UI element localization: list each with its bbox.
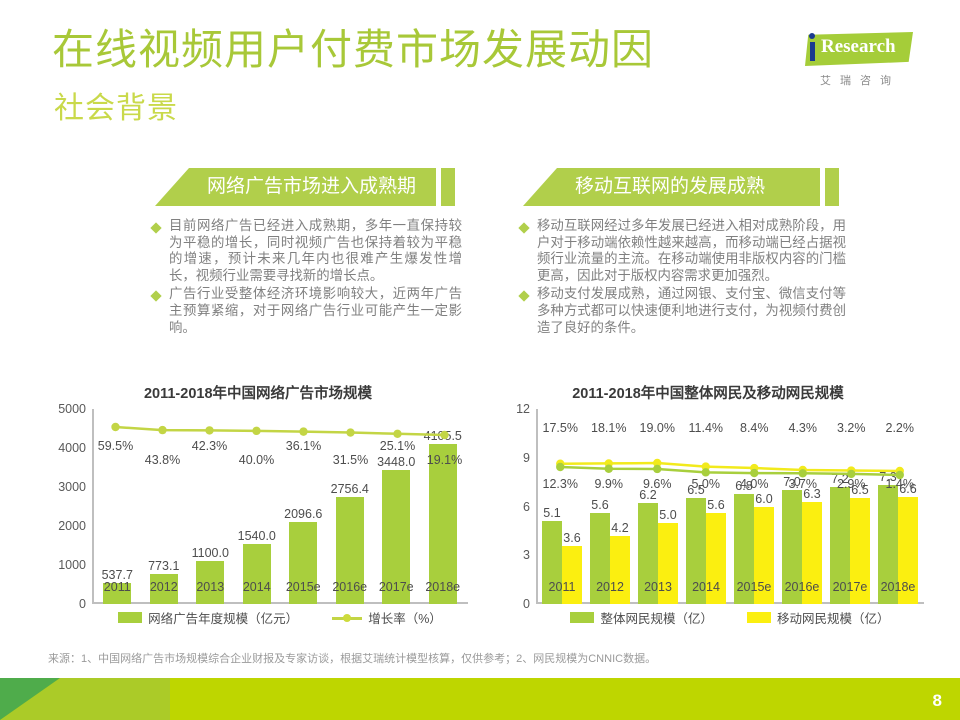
footer-bar: 8	[0, 678, 960, 720]
diamond-bullet-icon	[518, 291, 529, 302]
diamond-bullet-icon	[150, 291, 161, 302]
line-value-label: 25.1%	[380, 439, 415, 453]
bar-group: 7.06.3	[778, 409, 826, 604]
line-value-label: 11.4%	[688, 421, 723, 435]
line-value-label: 3.7%	[789, 477, 818, 491]
bar-group: 6.86.0	[730, 409, 778, 604]
bar-group: 7.26.5	[826, 409, 874, 604]
bar: 3.6	[562, 546, 582, 605]
line-value-label: 43.8%	[145, 453, 180, 467]
bar-value-label: 773.1	[148, 559, 179, 573]
section-banner-right: 移动互联网的发展成熟	[523, 168, 839, 206]
diamond-bullet-icon	[518, 222, 529, 233]
bar-series: 5.13.65.64.26.25.06.55.66.86.07.06.37.26…	[538, 409, 922, 604]
x-axis-labels: 20112012201320142015e2016e2017e2018e	[94, 580, 466, 594]
x-axis-label: 2016e	[778, 580, 826, 594]
x-axis-label: 2011	[538, 580, 586, 594]
y-axis-tick: 1000	[58, 558, 86, 572]
x-axis-label: 2018e	[420, 580, 467, 594]
chart-title: 2011-2018年中国网络广告市场规模	[48, 382, 468, 403]
bar-group: 6.25.0	[634, 409, 682, 604]
section-banner-left: 网络广告市场进入成熟期	[155, 168, 455, 206]
bar-value-label: 3448.0	[377, 455, 415, 469]
bar-value-label: 4105.5	[424, 429, 462, 443]
chart-title: 2011-2018年中国整体网民及移动网民规模	[492, 382, 924, 403]
line-value-label: 59.5%	[98, 439, 133, 453]
bar-value-label: 2096.6	[284, 507, 322, 521]
x-axis-label: 2013	[187, 580, 234, 594]
y-axis-tick: 2000	[58, 519, 86, 533]
x-axis-label: 2011	[94, 580, 141, 594]
legend-swatch-mobile	[747, 612, 771, 623]
y-axis-tick: 5000	[58, 402, 86, 416]
bar-value-label: 5.0	[659, 508, 676, 522]
chart-legend: 整体网民规模（亿） 移动网民规模（亿）	[536, 608, 924, 627]
x-axis-label: 2015e	[280, 580, 327, 594]
line-value-label: 4.3%	[789, 421, 818, 435]
line-value-label: 2.9%	[837, 477, 866, 491]
x-axis-label: 2014	[682, 580, 730, 594]
chart-netizen-scale: 2011-2018年中国整体网民及移动网民规模 129630 5.13.65.6…	[492, 382, 924, 647]
diamond-bullet-icon	[150, 222, 161, 233]
bar-group: 1540.0	[234, 409, 281, 604]
bar-value-label: 5.6	[591, 498, 608, 512]
logo-i-dot-icon	[809, 33, 815, 39]
line-value-label: 2.2%	[886, 421, 915, 435]
bar-group: 2756.4	[327, 409, 374, 604]
legend-label: 增长率（%）	[368, 608, 442, 627]
bar-value-label: 6.0	[755, 492, 772, 506]
bar-value-label: 3.6	[563, 531, 580, 545]
line-value-label: 8.4%	[740, 421, 769, 435]
legend-swatch-bar	[118, 612, 142, 623]
x-axis-label: 2017e	[826, 580, 874, 594]
banner-divider-white	[436, 168, 441, 206]
iresearch-logo: Research 艾瑞咨询	[795, 30, 915, 92]
slide: 在线视频用户付费市场发展动因 社会背景 Research 艾瑞咨询 网络广告市场…	[0, 0, 960, 720]
y-axis-tick: 0	[523, 597, 530, 611]
plot-area: 500040003000200010000 537.7773.11100.015…	[48, 409, 468, 604]
legend-label: 移动网民规模（亿）	[777, 608, 890, 627]
banner-divider-green	[447, 168, 455, 206]
line-value-label: 5.0%	[692, 477, 721, 491]
line-value-label: 36.1%	[286, 439, 321, 453]
y-axis-tick: 4000	[58, 441, 86, 455]
bar-group: 5.64.2	[586, 409, 634, 604]
y-axis-tick: 3000	[58, 480, 86, 494]
bar-value-label: 2756.4	[331, 482, 369, 496]
y-axis: 129630	[492, 409, 536, 604]
x-axis-label: 2012	[586, 580, 634, 594]
line-value-label: 19.1%	[427, 453, 462, 467]
x-axis-label: 2016e	[327, 580, 374, 594]
bullet-text: 广告行业受整体经济环境影响较大，近两年广告主预算紧缩，对于网络广告行业可能产生一…	[169, 286, 462, 336]
legend-swatch-total	[570, 612, 594, 623]
line-value-label: 18.1%	[591, 421, 626, 435]
bar-value-label: 5.1	[543, 506, 560, 520]
y-axis: 500040003000200010000	[48, 409, 92, 604]
legend-swatch-line	[332, 612, 362, 623]
x-axis-labels: 20112012201320142015e2016e2017e2018e	[538, 580, 922, 594]
bullet-item: 广告行业受整体经济环境影响较大，近两年广告主预算紧缩，对于网络广告行业可能产生一…	[152, 286, 462, 336]
line-value-label: 17.5%	[543, 421, 578, 435]
line-value-label: 9.9%	[595, 477, 624, 491]
source-note: 来源：1、中国网络广告市场规模综合企业财报及专家访谈，根据艾瑞统计模型核算，仅供…	[48, 650, 918, 666]
logo-i-stem-icon	[810, 42, 815, 61]
logo-wordmark: Research	[821, 36, 896, 58]
logo-chinese-name: 艾瑞咨询	[807, 72, 913, 88]
line-value-label: 19.0%	[640, 421, 675, 435]
page-title: 在线视频用户付费市场发展动因	[52, 26, 654, 74]
bar-value-label: 1100.0	[192, 546, 229, 560]
y-axis-tick: 12	[516, 402, 530, 416]
page-subtitle: 社会背景	[54, 92, 178, 127]
line-value-label: 3.2%	[837, 421, 866, 435]
line-value-label: 1.4%	[886, 477, 915, 491]
y-axis-tick: 3	[523, 548, 530, 562]
bar-value-label: 1540.0	[238, 529, 276, 543]
line-value-label: 4.0%	[740, 477, 769, 491]
bullet-item: 移动支付发展成熟，通过网银、支付宝、微信支付等多种方式都可以快速便利地进行支付，…	[520, 286, 846, 336]
logo-mark: Research	[795, 30, 915, 70]
bar-group: 773.1	[141, 409, 188, 604]
x-axis-label: 2015e	[730, 580, 778, 594]
x-axis-label: 2012	[141, 580, 188, 594]
line-value-label: 42.3%	[192, 439, 227, 453]
bullet-text: 移动互联网经过多年发展已经进入相对成熟阶段，用户对于移动端依赖性越来越高，而移动…	[537, 218, 846, 284]
bar-group: 4105.5	[420, 409, 467, 604]
bar-group: 5.13.6	[538, 409, 586, 604]
legend-label: 网络广告年度规模（亿元）	[148, 608, 298, 627]
line-value-label: 12.3%	[543, 477, 578, 491]
banner-divider-green	[831, 168, 839, 206]
line-value-label: 40.0%	[239, 453, 274, 467]
bar-value-label: 5.6	[707, 498, 724, 512]
bar-group: 6.55.6	[682, 409, 730, 604]
y-axis-tick: 0	[79, 597, 86, 611]
bullet-text: 移动支付发展成熟，通过网银、支付宝、微信支付等多种方式都可以快速便利地进行支付，…	[537, 286, 846, 336]
banner-left-label: 网络广告市场进入成熟期	[207, 168, 416, 206]
bullet-item: 目前网络广告已经进入成熟期，多年一直保持较为平稳的增长，同时视频广告也保持着较为…	[152, 218, 462, 284]
bar-value-label: 4.2	[611, 521, 628, 535]
bullet-list-left: 目前网络广告已经进入成熟期，多年一直保持较为平稳的增长，同时视频广告也保持着较为…	[152, 218, 462, 338]
banner-divider-white	[820, 168, 825, 206]
chart-legend: 网络广告年度规模（亿元） 增长率（%）	[92, 608, 468, 627]
legend-label: 整体网民规模（亿）	[600, 608, 713, 627]
x-axis-label: 2018e	[874, 580, 922, 594]
x-axis-label: 2013	[634, 580, 682, 594]
x-axis-label: 2017e	[373, 580, 420, 594]
legend-item-mobile: 移动网民规模（亿）	[747, 608, 890, 627]
plot-area: 129630 5.13.65.64.26.25.06.55.66.86.07.0…	[492, 409, 924, 604]
legend-item-line: 增长率（%）	[332, 608, 442, 627]
bullet-item: 移动互联网经过多年发展已经进入相对成熟阶段，用户对于移动端依赖性越来越高，而移动…	[520, 218, 846, 284]
banner-right-label: 移动互联网的发展成熟	[575, 168, 765, 206]
chart-online-ad-market: 2011-2018年中国网络广告市场规模 5000400030002000100…	[48, 382, 468, 647]
line-value-label: 31.5%	[333, 453, 368, 467]
bar-group: 7.36.6	[874, 409, 922, 604]
y-axis-tick: 6	[523, 500, 530, 514]
legend-item-total: 整体网民规模（亿）	[570, 608, 713, 627]
legend-item-bar: 网络广告年度规模（亿元）	[118, 608, 298, 627]
bar: 1540.0	[243, 544, 271, 604]
y-axis-tick: 9	[523, 451, 530, 465]
bullet-text: 目前网络广告已经进入成熟期，多年一直保持较为平稳的增长，同时视频广告也保持着较为…	[169, 218, 462, 284]
x-axis-label: 2014	[234, 580, 281, 594]
bullet-list-right: 移动互联网经过多年发展已经进入相对成熟阶段，用户对于移动端依赖性越来越高，而移动…	[520, 218, 846, 338]
line-value-label: 9.6%	[643, 477, 672, 491]
page-number: 8	[933, 691, 942, 711]
